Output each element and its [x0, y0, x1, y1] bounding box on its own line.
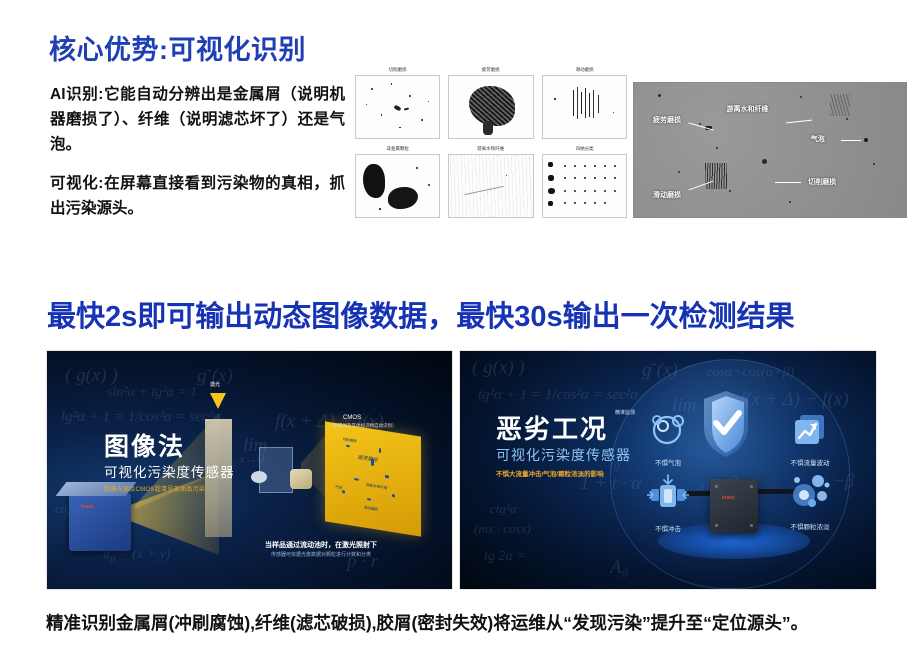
poster-page: 核心优势:可视化识别 AI识别:它能自动分辨出是金属屑（说明机器磨损了）、纤维（… — [0, 0, 922, 661]
paragraph-ai-recognition: AI识别:它能自动分辨出是金属屑（说明机器磨损了）、纤维（说明滤芯坏了）还是气泡… — [50, 82, 345, 157]
sensor-device-left: inaoc — [69, 493, 131, 551]
feature-impact-label: 不惧冲击 — [638, 523, 698, 533]
panel-imaging-method: ( g(x) ) g-(x) sin²α + tg²α = 1 lg²α + 1… — [46, 350, 453, 590]
grid-cell-image-cutting-wear — [355, 75, 440, 139]
device-brand-label: inaoc — [81, 504, 94, 510]
panel-left-title: 图像法 — [104, 427, 185, 463]
bottom-caption: 精准识别金属屑(冲刷腐蚀),纤维(滤芯破损),胶屑(密封失效)将运维从“发现污染… — [46, 610, 906, 635]
grid-cell: 非金属颗粒 — [355, 145, 440, 218]
micrograph-grid: 切削磨损 疲劳磨损 滑动磨损 — [355, 66, 627, 218]
cmos-panel: 切削磨损 疲劳磨损 游离水和纤维 气泡 滑动磨损 — [325, 421, 421, 536]
grid-cell-label: 游离水和纤维 — [453, 145, 530, 153]
panel-left-caption-main: 当样品通过流动池时，在激光照射下 — [265, 540, 377, 550]
grid-cell-image-classification — [542, 154, 627, 218]
micrograph-annotation-water-fiber: 游离水和纤维 — [726, 104, 768, 114]
grid-cell: 游离水和纤维 — [448, 145, 533, 218]
shield-check-icon — [696, 389, 756, 459]
panel-right-superscript: 精准监测 — [615, 409, 635, 416]
annotated-micrograph: 疲劳磨损 游离水和纤维 气泡 滑动磨损 切削磨损 — [633, 82, 907, 218]
section2-title: 最快2s即可输出动态图像数据，最快30s输出一次检测结果 — [47, 293, 795, 335]
cmos-label: CMOS — [343, 415, 361, 421]
objective-lens — [290, 469, 312, 489]
panel-left-subtitle: 可视化污染度传感器 — [104, 461, 235, 481]
panel-right-title: 恶劣工况 — [496, 409, 608, 446]
grid-cell: 滑动磨损 — [542, 66, 627, 139]
paragraph-visualization: 可视化:在屏幕直接看到污染物的真相，抓出污染源头。 — [50, 171, 345, 221]
grid-cell: 疲劳磨损 — [448, 66, 533, 139]
micrograph-annotation-fatigue: 疲劳磨损 — [653, 115, 681, 125]
grid-cell-image-sliding-wear — [542, 75, 627, 139]
panel-left-tagline: 超强光源及CMOS超清呈现油品污染 — [104, 484, 205, 493]
feature-bubble: 不惧气泡 — [638, 409, 698, 467]
micrograph-annotation-sliding: 滑动磨损 — [653, 190, 681, 200]
trend-chart-icon — [790, 409, 830, 449]
grid-cell-label: 疲劳磨损 — [453, 66, 530, 74]
panel-right-tagline: 不惧大流量冲击/气泡/颗粒浓淡的影响 — [496, 468, 604, 478]
particles-icon — [788, 469, 832, 513]
grid-cell-label: 归纳分类 — [546, 145, 623, 153]
grid-cell-label: 滑动磨损 — [546, 66, 623, 74]
feature-particle-density-label: 不惧颗粒浓淡 — [770, 521, 850, 531]
feature-impact: 不惧冲击 — [638, 473, 698, 533]
grid-cell: 归纳分类 — [542, 145, 627, 218]
micrograph-annotation-cutting: 切削磨损 — [808, 177, 836, 187]
laser-arrow-icon — [210, 393, 226, 409]
impact-icon — [647, 473, 689, 515]
feature-flow-fluctuation: 不惧流量波动 — [770, 409, 850, 467]
grid-cell-label: 非金属颗粒 — [359, 145, 436, 153]
bubble-icon — [648, 409, 688, 449]
section1-text-block: AI识别:它能自动分辨出是金属屑（说明机器磨损了）、纤维（说明滤芯坏了）还是气泡… — [50, 82, 345, 235]
grid-cell: 切削磨损 — [355, 66, 440, 139]
grid-cell-image-nonmetal-particle — [355, 154, 440, 218]
grid-cell-image-free-water-fiber — [448, 154, 533, 218]
panel-right-subtitle: 可视化污染度传感器 — [496, 445, 631, 465]
laser-label: 激光 — [210, 381, 220, 388]
grid-cell-image-fatigue-wear — [448, 75, 533, 139]
section1-title: 核心优势:可视化识别 — [49, 28, 306, 67]
prism-element — [259, 447, 293, 493]
panel-harsh-conditions: ( g(x) ) g-(x) cosα · cos(α+β) tg²α + 1 … — [459, 350, 877, 590]
cmos-sublabel: （金属屑及其他标识物自动识别） — [329, 423, 397, 429]
feature-bubble-label: 不惧气泡 — [638, 457, 698, 467]
micrograph-annotation-bubble: 气泡 — [811, 134, 825, 144]
lens-element — [251, 471, 267, 483]
panel-left-caption-sub: 传感器可依据光像数据对颗粒进行计数和分类 — [271, 551, 371, 558]
feature-particle-density: 不惧颗粒浓淡 — [770, 469, 850, 531]
sensor-device-right: inaoc — [710, 479, 758, 533]
feature-flow-fluctuation-label: 不惧流量波动 — [770, 457, 850, 467]
device-brand-label: inaoc — [722, 495, 735, 501]
grid-cell-label: 切削磨损 — [359, 66, 436, 74]
